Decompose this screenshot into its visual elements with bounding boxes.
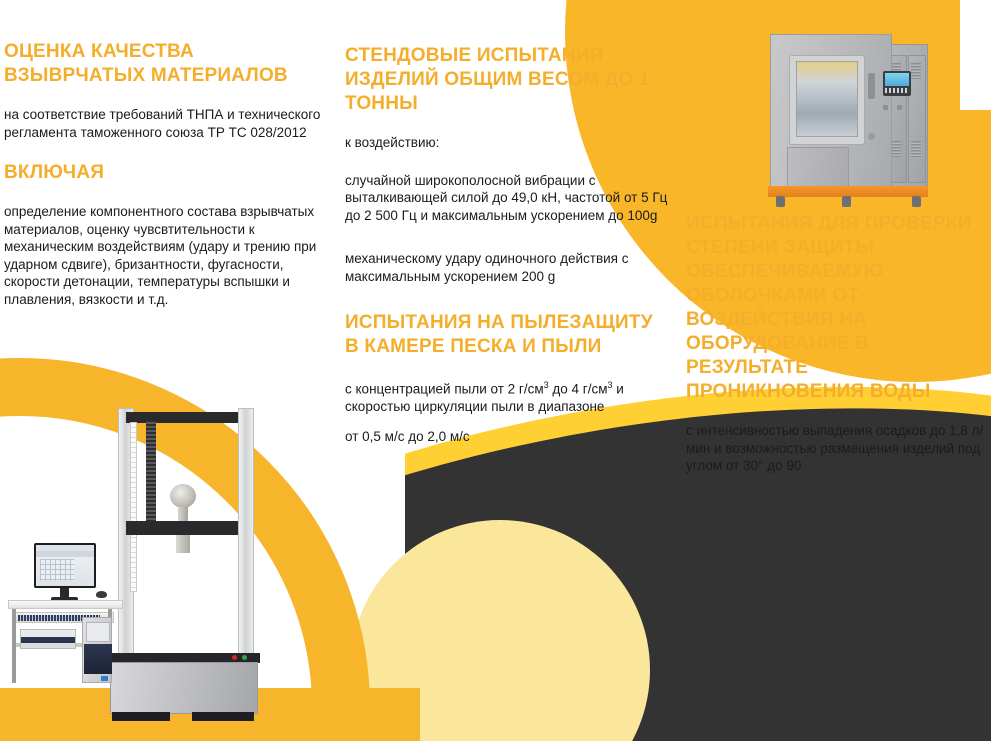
right-heading: ИСПЫТАНИЯ ДЛЯ ПРОВЕРКИ СТЕПЕНИ ЗАЩИТЫ ОБ…: [686, 212, 986, 404]
spacer: [345, 224, 670, 250]
monitor-screen: [36, 545, 94, 586]
middle-heading: СТЕНДОВЫЕ ИСПЫТАНИЯ ИЗДЕЛИЙ ОБЩИМ ВЕСОМ …: [345, 44, 670, 116]
utm-base-cabinet: [110, 662, 258, 714]
chamber-door-knob: [868, 133, 875, 140]
spacer: [4, 94, 329, 106]
chamber-door-handle: [868, 73, 875, 99]
middle-list-item-2: механическому удару одиночного действия …: [345, 250, 670, 285]
chamber-button-1: [883, 105, 888, 110]
left-subheading: ВКЛЮЧАЯ: [4, 161, 329, 185]
chamber-vent-4: [911, 141, 921, 157]
desk-pc-tower: [82, 617, 112, 683]
middle-body-text-2: с концентрацией пыли от 2 г/см3 до 4 г/с…: [345, 377, 670, 416]
chamber-caster-2: [842, 196, 851, 207]
utm-grip-lower: [176, 535, 190, 553]
spacer: [686, 410, 986, 422]
control-desk-image: [8, 543, 123, 688]
decor-circle-top-right-mask: [960, 0, 991, 110]
spacer: [345, 152, 670, 172]
monitor-chart-area: [40, 559, 74, 581]
spacer: [345, 285, 670, 311]
utm-foot-left: [112, 712, 170, 721]
spacer: [4, 191, 329, 203]
dust-conc-part1: с концентрацией пыли от 2 г/см: [345, 382, 544, 397]
utm-top-beam: [126, 412, 238, 423]
utm-lead-screw: [146, 420, 156, 526]
left-intro-text: на соответствие требований ТНПА и технич…: [4, 106, 329, 141]
utm-column-right: [238, 408, 254, 658]
chamber-hmi-keys: [885, 88, 909, 93]
utm-foot-right: [192, 712, 254, 721]
spacer: [345, 122, 670, 134]
column-right: ИСПЫТАНИЯ ДЛЯ ПРОВЕРКИ СТЕПЕНИ ЗАЩИТЫ ОБ…: [686, 212, 986, 475]
left-heading: ОЦЕНКА КАЧЕСТВА ВЗЫВРЧАТЫХ МАТЕРИАЛОВ: [4, 40, 329, 88]
utm-start-button: [242, 655, 247, 660]
chamber-control-panel: [883, 71, 911, 96]
spacer: [345, 416, 670, 428]
middle-lead-text: к воздействию:: [345, 134, 670, 152]
left-body-text: определение компонентного состава взрывч…: [4, 203, 329, 308]
pc-front-panel: [84, 644, 112, 674]
decor-circle-pale-yellow: [350, 520, 650, 741]
chamber-vent-2: [911, 63, 921, 79]
desk-printer: [20, 629, 76, 649]
chamber-right-cabinet: [886, 44, 928, 192]
right-body-text: с интенсивностью выпадения осадков до 1,…: [686, 422, 986, 475]
chamber-caster-3: [912, 196, 921, 207]
chamber-main-body: [770, 34, 892, 190]
column-middle: СТЕНДОВЫЕ ИСПЫТАНИЯ ИЗДЕЛИЙ ОБЩИМ ВЕСОМ …: [345, 44, 670, 445]
testing-machine-image: [108, 408, 278, 698]
utm-crosshead: [126, 521, 238, 535]
column-left: ОЦЕНКА КАЧЕСТВА ВЗЫВРЧАТЫХ МАТЕРИАЛОВ на…: [4, 40, 329, 308]
desk-surface: [8, 600, 123, 609]
spacer: [345, 365, 670, 377]
chamber-button-2: [897, 105, 902, 110]
chamber-vent-3: [891, 141, 901, 157]
desk-monitor: [34, 543, 96, 588]
brochure-page: ОЦЕНКА КАЧЕСТВА ВЗЫВРЧАТЫХ МАТЕРИАЛОВ на…: [0, 0, 991, 741]
spacer: [4, 141, 329, 161]
middle-list-item-1: случайной широкополосной вибрации с выта…: [345, 172, 670, 225]
chamber-window: [796, 61, 858, 137]
utm-load-cell: [170, 484, 196, 508]
chamber-caster-1: [776, 196, 785, 207]
dust-conc-part2: до 4 г/см: [549, 382, 608, 397]
pc-power-led: [101, 676, 108, 681]
middle-heading-2: ИСПЫТАНИЯ НА ПЫЛЕЗАЩИТУ В КАМЕРЕ ПЕСКА И…: [345, 311, 670, 359]
test-chamber-image: [760, 26, 935, 211]
desk-mouse: [96, 591, 107, 598]
middle-body-text-3: от 0,5 м/с до 2,0 м/с: [345, 428, 670, 446]
pc-drive-bay: [86, 622, 110, 642]
chamber-hmi-screen: [885, 73, 909, 86]
utm-scale: [130, 422, 137, 592]
utm-stop-button: [232, 655, 237, 660]
